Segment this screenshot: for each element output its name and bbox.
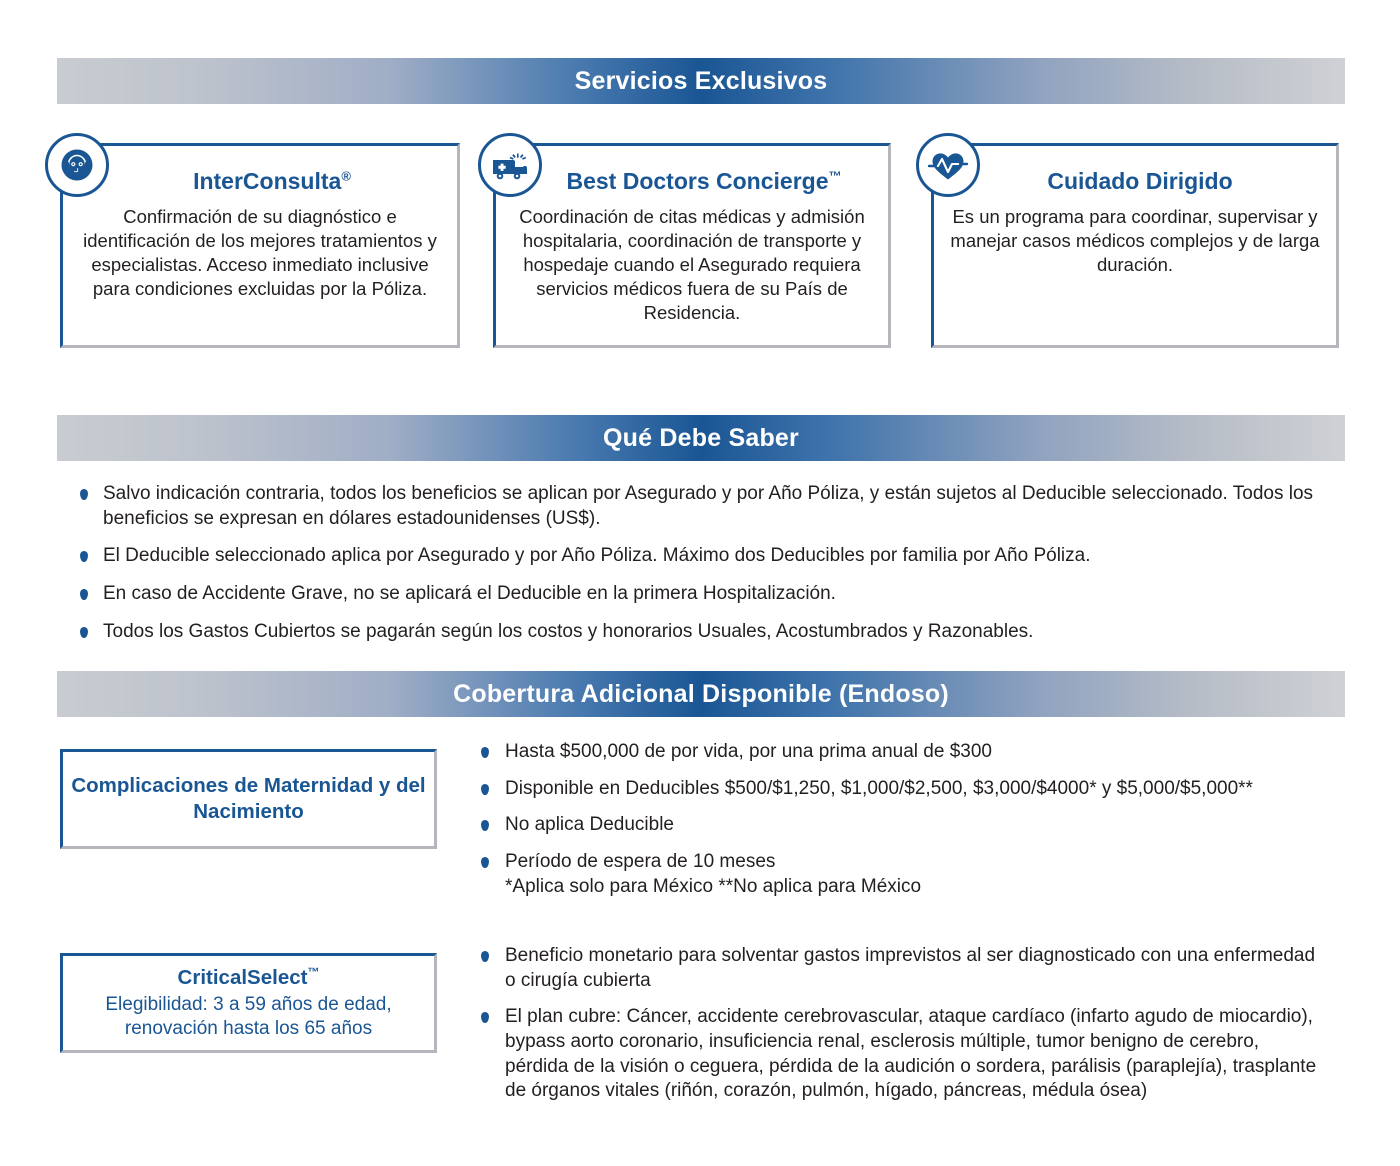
trademark-mark: ™ [307, 966, 319, 980]
que-debe-saber-bullet-list: Salvo indicación contraria, todos los be… [57, 482, 1347, 657]
service-card-cuidado-dirigido: Cuidado Dirigido Es un programa para coo… [931, 143, 1339, 348]
list-item: Beneficio monetario para solventar gasto… [467, 944, 1327, 993]
service-card-title: Cuidado Dirigido [934, 168, 1336, 195]
service-card-body: Es un programa para coordinar, supervisa… [934, 195, 1336, 277]
registered-mark: ® [341, 168, 351, 183]
list-item: Hasta $500,000 de por vida, por una prim… [467, 740, 1317, 765]
footnote-text: *Aplica solo para México **No aplica par… [505, 875, 1317, 900]
service-card-title: InterConsulta® [63, 168, 457, 195]
trademark-mark: ™ [829, 168, 842, 183]
section-title: Cobertura Adicional Disponible (Endoso) [453, 680, 949, 709]
service-card-interconsulta: InterConsulta® Confirmación de su diagnó… [60, 143, 460, 348]
ambulance-icon [478, 133, 542, 197]
endorsement-box-criticalselect: CriticalSelect™ Elegibilidad: 3 a 59 año… [60, 953, 437, 1053]
list-item: Disponible en Deducibles $500/$1,250, $1… [467, 777, 1317, 802]
section-header-servicios-exclusivos: Servicios Exclusivos [57, 58, 1345, 104]
list-item: No aplica Deducible [467, 813, 1317, 838]
service-card-body: Confirmación de su diagnóstico e identif… [63, 195, 457, 301]
list-item: Salvo indicación contraria, todos los be… [57, 482, 1347, 531]
endorsement-title: Complicaciones de Maternidad y del Nacim… [63, 773, 434, 824]
endorsement-box-complicaciones-maternidad: Complicaciones de Maternidad y del Nacim… [60, 749, 437, 849]
section-header-cobertura-adicional: Cobertura Adicional Disponible (Endoso) [57, 671, 1345, 717]
list-item: En caso de Accidente Grave, no se aplica… [57, 582, 1347, 607]
list-item: Período de espera de 10 meses *Aplica so… [467, 850, 1317, 899]
headset-agent-icon [45, 133, 109, 197]
list-item: El Deducible seleccionado aplica por Ase… [57, 544, 1347, 569]
maternidad-bullet-list: Hasta $500,000 de por vida, por una prim… [467, 740, 1317, 911]
service-card-best-doctors-concierge: Best Doctors Concierge™ Coordinación de … [493, 143, 891, 348]
section-header-que-debe-saber: Qué Debe Saber [57, 415, 1345, 461]
service-cards-row: InterConsulta® Confirmación de su diagnó… [0, 143, 1400, 358]
endorsement-subtitle: Elegibilidad: 3 a 59 años de edad, renov… [63, 993, 434, 1041]
list-item: Todos los Gastos Cubiertos se pagarán se… [57, 620, 1347, 645]
service-card-body: Coordinación de citas médicas y admisión… [496, 195, 888, 325]
section-title: Servicios Exclusivos [575, 67, 828, 96]
criticalselect-bullet-list: Beneficio monetario para solventar gasto… [467, 944, 1327, 1116]
list-item: El plan cubre: Cáncer, accidente cerebro… [467, 1005, 1327, 1104]
endorsement-title: CriticalSelect™ [178, 965, 320, 991]
heart-pulse-icon [916, 133, 980, 197]
list-item-text: Período de espera de 10 meses [505, 851, 775, 872]
service-card-title: Best Doctors Concierge™ [496, 168, 888, 195]
section-title: Qué Debe Saber [603, 424, 799, 453]
